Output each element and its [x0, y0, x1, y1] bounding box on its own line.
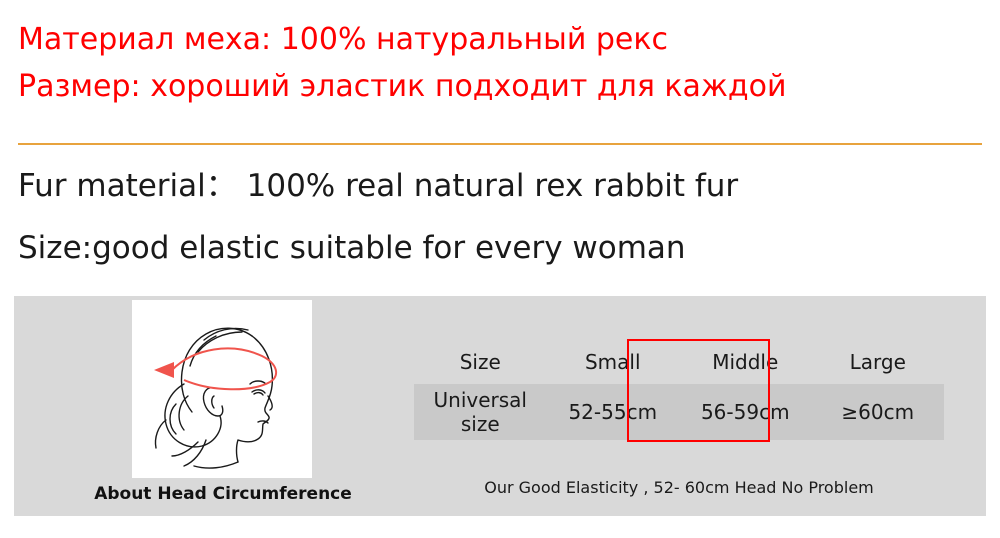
english-headline-line-2: Size:good elastic suitable for every wom…: [18, 217, 982, 279]
size-table: Size Small Middle Large Universal size 5…: [414, 340, 944, 440]
english-headline-line-1: Fur material： 100% real natural rex rabb…: [18, 155, 982, 217]
english-headline-block: Fur material： 100% real natural rex rabb…: [18, 155, 982, 279]
size-panel: About Head Circumference Size Small Midd…: [14, 296, 986, 516]
table-cell-universal-size: Universal size: [414, 384, 547, 440]
table-header-small: Small: [547, 340, 680, 384]
table-header-middle: Middle: [679, 340, 812, 384]
russian-headline-line-2: Размер: хороший эластик подходит для каж…: [18, 63, 982, 110]
table-cell-middle-value: 56-59cm: [679, 384, 812, 440]
elasticity-note: Our Good Elasticity , 52- 60cm Head No P…: [414, 478, 944, 497]
russian-headline-block: Материал меха: 100% натуральный рекс Раз…: [18, 16, 982, 110]
table-header-large: Large: [812, 340, 945, 384]
orange-divider: [18, 143, 982, 145]
table-header-size: Size: [414, 340, 547, 384]
head-illustration-caption: About Head Circumference: [78, 484, 368, 504]
table-cell-small-value: 52-55cm: [547, 384, 680, 440]
product-info-graphic: Материал меха: 100% натуральный рекс Раз…: [0, 0, 1000, 538]
table-cell-large-value: ≥60cm: [812, 384, 945, 440]
russian-headline-line-1: Материал меха: 100% натуральный рекс: [18, 16, 982, 63]
table-header-row: Size Small Middle Large: [414, 340, 944, 384]
table-row: Universal size 52-55cm 56-59cm ≥60cm: [414, 384, 944, 440]
head-illustration: [132, 300, 312, 478]
